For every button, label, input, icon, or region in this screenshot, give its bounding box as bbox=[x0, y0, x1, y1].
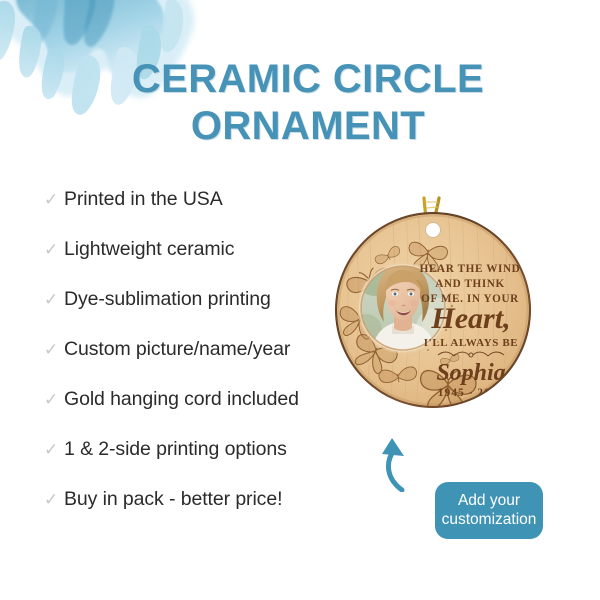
feature-label: 1 & 2-side printing options bbox=[64, 440, 287, 460]
check-mark-icon: ✓ bbox=[44, 491, 64, 508]
title-line-2: ORNAMENT bbox=[108, 103, 508, 150]
quote-line-2: AND THINK bbox=[435, 278, 505, 290]
check-mark-icon: ✓ bbox=[44, 391, 64, 408]
add-customization-badge[interactable]: Add your customization bbox=[435, 482, 543, 539]
badge-line-2: customization bbox=[441, 510, 537, 529]
ceramic-circle-ornament: HEAR THE WIND AND THINK OF ME. IN YOUR H… bbox=[330, 210, 536, 410]
quote-line-1: HEAR THE WIND bbox=[420, 263, 521, 275]
quote-line-4: I'LL ALWAYS BE bbox=[424, 337, 518, 349]
feature-label: Printed in the USA bbox=[64, 190, 223, 210]
list-item: ✓ Buy in pack - better price! bbox=[44, 490, 334, 540]
list-item: ✓ Dye-sublimation printing bbox=[44, 290, 334, 340]
curved-arrow-icon bbox=[378, 436, 424, 492]
list-item: ✓ 1 & 2-side printing options bbox=[44, 440, 334, 490]
check-mark-icon: ✓ bbox=[44, 241, 64, 258]
product-image: HEAR THE WIND AND THINK OF ME. IN YOUR H… bbox=[326, 196, 540, 412]
check-mark-icon: ✓ bbox=[44, 291, 64, 308]
quote-script-heart: Heart, bbox=[430, 302, 510, 335]
check-mark-icon: ✓ bbox=[44, 191, 64, 208]
feature-label: Buy in pack - better price! bbox=[64, 490, 282, 510]
feature-label: Dye-sublimation printing bbox=[64, 290, 271, 310]
feature-label: Gold hanging cord included bbox=[64, 390, 299, 410]
feature-label: Custom picture/name/year bbox=[64, 340, 290, 360]
list-item: ✓ Gold hanging cord included bbox=[44, 390, 334, 440]
list-item: ✓ Custom picture/name/year bbox=[44, 340, 334, 390]
name-script: Sophia bbox=[436, 360, 505, 386]
page-title: CERAMIC CIRCLE ORNAMENT bbox=[108, 56, 508, 150]
list-item: ✓ Lightweight ceramic bbox=[44, 240, 334, 290]
badge-line-1: Add your bbox=[441, 491, 537, 510]
feature-list: ✓ Printed in the USA ✓ Lightweight ceram… bbox=[44, 190, 334, 540]
feature-label: Lightweight ceramic bbox=[64, 240, 234, 260]
product-feature-graphic: CERAMIC CIRCLE ORNAMENT ✓ Printed in the… bbox=[0, 0, 600, 600]
list-item: ✓ Printed in the USA bbox=[44, 190, 334, 240]
dates-text: 1945 - 2022 bbox=[438, 387, 505, 399]
check-mark-icon: ✓ bbox=[44, 441, 64, 458]
check-mark-icon: ✓ bbox=[44, 341, 64, 358]
title-line-1: CERAMIC CIRCLE bbox=[108, 56, 508, 103]
